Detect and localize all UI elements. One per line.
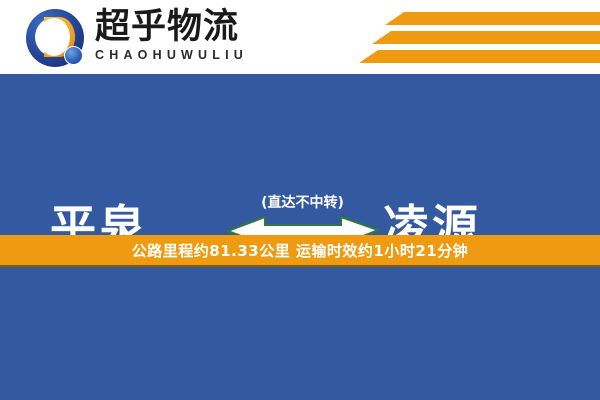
header-bar: 超乎物流 CHAOHUWULIU [0, 0, 600, 74]
distance-duration-bar: 公路里程约81.33公里 运输时效约1小时21分钟 [0, 235, 600, 267]
distance-duration-text: 公路里程约81.33公里 运输时效约1小时21分钟 [132, 240, 468, 261]
logistics-route-banner: 超乎物流 CHAOHUWULIU 平泉 (直达不中转) 【往返运输】 凌源 公路… [0, 0, 600, 400]
brand-wordmark: 超乎物流 CHAOHUWULIU [95, 8, 285, 62]
stripe-2 [372, 31, 600, 44]
orange-speed-stripes-icon [360, 10, 600, 66]
brand-name-en: CHAOHUWULIU [95, 48, 285, 62]
logo-small-dot-shape [64, 46, 83, 65]
chaohu-logo-circle-icon [26, 9, 84, 67]
route-panel: 平泉 (直达不中转) 【往返运输】 凌源 [0, 74, 600, 235]
stripe-3 [360, 50, 600, 63]
stripe-1 [385, 12, 600, 25]
brand-name-cn: 超乎物流 [95, 8, 285, 46]
direct-service-note: (直达不中转) [225, 192, 380, 212]
coverage-panel: 东城街道、北街街道、南街街道、热水汤园区、红山街道、城关街道、万元店镇、宋杖子镇… [0, 267, 600, 400]
